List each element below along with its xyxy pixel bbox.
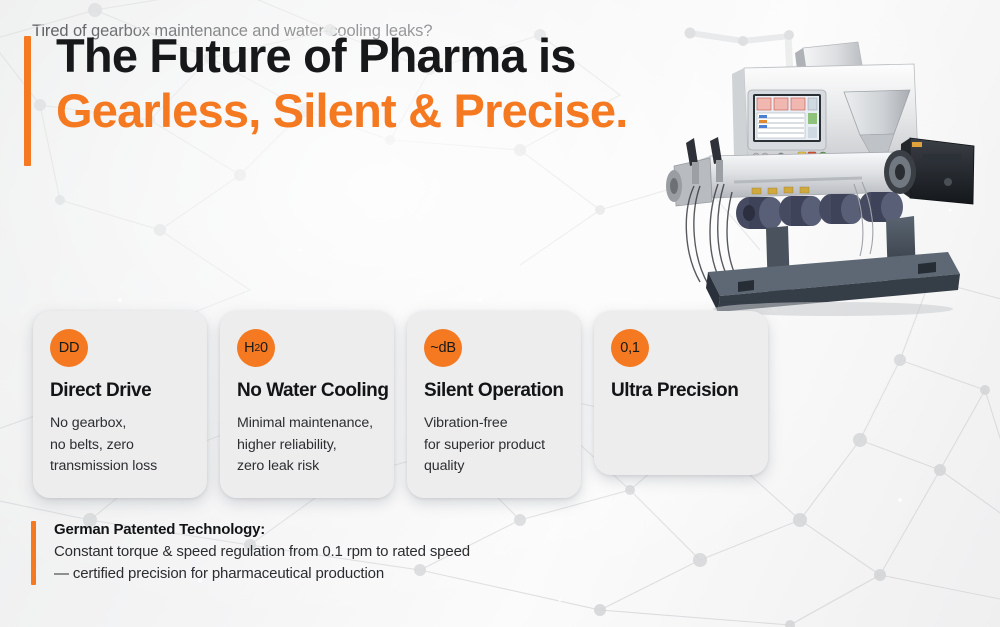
- footer-line-2: — certified precision for pharmaceutical…: [54, 563, 470, 585]
- feature-card-body: No gearbox, no belts, zero transmission …: [50, 413, 190, 478]
- decibel-badge-icon: ~dB: [424, 329, 462, 367]
- footer-line-1: Constant torque & speed regulation from …: [54, 541, 470, 563]
- feature-card-body: Minimal maintenance, higher reliability,…: [237, 413, 377, 478]
- feature-body-line: transmission loss: [50, 456, 190, 478]
- feature-card-no-water-cooling[interactable]: H20 No Water Cooling Minimal maintenance…: [220, 311, 394, 498]
- feature-body-line: for superior product: [424, 435, 564, 457]
- direct-drive-badge-icon: DD: [50, 329, 88, 367]
- feature-card-list: DD Direct Drive No gearbox, no belts, ze…: [33, 311, 768, 498]
- hero-section: The Future of Pharma is Gearless, Silent…: [24, 32, 627, 136]
- feature-card-title: Silent Operation: [424, 380, 564, 402]
- feature-body-line: no belts, zero: [50, 435, 190, 457]
- extruder-machine-image: [648, 6, 996, 316]
- feature-body-line: No gearbox,: [50, 413, 190, 435]
- footer-callout: German Patented Technology: Constant tor…: [31, 521, 470, 585]
- hero-accent-bar: [24, 36, 31, 166]
- feature-body-line: zero leak risk: [237, 456, 377, 478]
- feature-card-silent-operation[interactable]: ~dB Silent Operation Vibration-free for …: [407, 311, 581, 498]
- feature-card-title: No Water Cooling: [237, 380, 377, 402]
- feature-card-title: Ultra Precision: [611, 380, 751, 402]
- h2o-badge-icon: H20: [237, 329, 275, 367]
- feature-body-line: Minimal maintenance,: [237, 413, 377, 435]
- feature-body-line: quality: [424, 456, 564, 478]
- feature-card-direct-drive[interactable]: DD Direct Drive No gearbox, no belts, ze…: [33, 311, 207, 498]
- poster-canvas: The Future of Pharma is Gearless, Silent…: [0, 0, 1000, 627]
- page-title-line1: The Future of Pharma is: [56, 32, 627, 81]
- badge-suffix: 0: [260, 340, 268, 356]
- feature-card-title: Direct Drive: [50, 380, 190, 402]
- feature-body-line: higher reliability,: [237, 435, 377, 457]
- feature-card-body: Vibration-free for superior product qual…: [424, 413, 564, 478]
- footer-accent-bar: [31, 521, 36, 585]
- badge-prefix: H: [244, 340, 254, 356]
- feature-body-line: Vibration-free: [424, 413, 564, 435]
- feature-card-ultra-precision[interactable]: 0,1 Ultra Precision: [594, 311, 768, 475]
- page-title-line2: Gearless, Silent & Precise.: [56, 87, 627, 136]
- precision-badge-icon: 0,1: [611, 329, 649, 367]
- footer-title: German Patented Technology:: [54, 521, 470, 538]
